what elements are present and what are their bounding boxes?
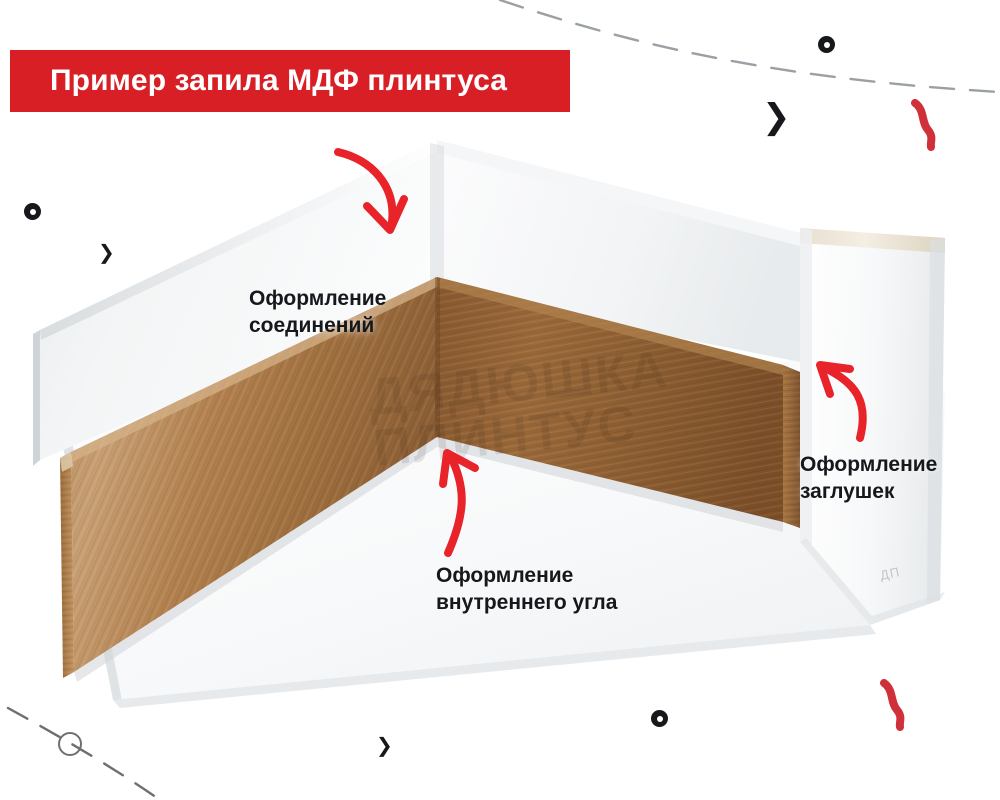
annotation-inner-corner: Оформление внутреннего угла (436, 563, 617, 617)
arrow-joints-icon (338, 152, 404, 230)
annotation-joints: Оформление соединений (249, 286, 386, 340)
annotation-inner-corner-line-2: внутреннего угла (436, 590, 617, 617)
annotation-end-caps-line-2: заглушек (800, 479, 937, 506)
title-banner: Пример запила МДФ плинтуса (10, 50, 570, 112)
title-banner-text: Пример запила МДФ плинтуса (10, 66, 507, 96)
annotation-end-caps-line-1: Оформление (800, 452, 937, 479)
annotation-arrows (0, 0, 1000, 800)
annotation-joints-line-2: соединений (249, 313, 386, 340)
arrow-inner-corner-icon (443, 453, 475, 553)
annotation-end-caps: Оформление заглушек (800, 452, 937, 506)
arrow-end-caps-icon (820, 365, 863, 438)
annotation-inner-corner-line-1: Оформление (436, 563, 617, 590)
annotation-joints-line-1: Оформление (249, 286, 386, 313)
illustration-canvas: ДЯДЮШКА ПЛИНТУС ДП (0, 0, 1000, 800)
